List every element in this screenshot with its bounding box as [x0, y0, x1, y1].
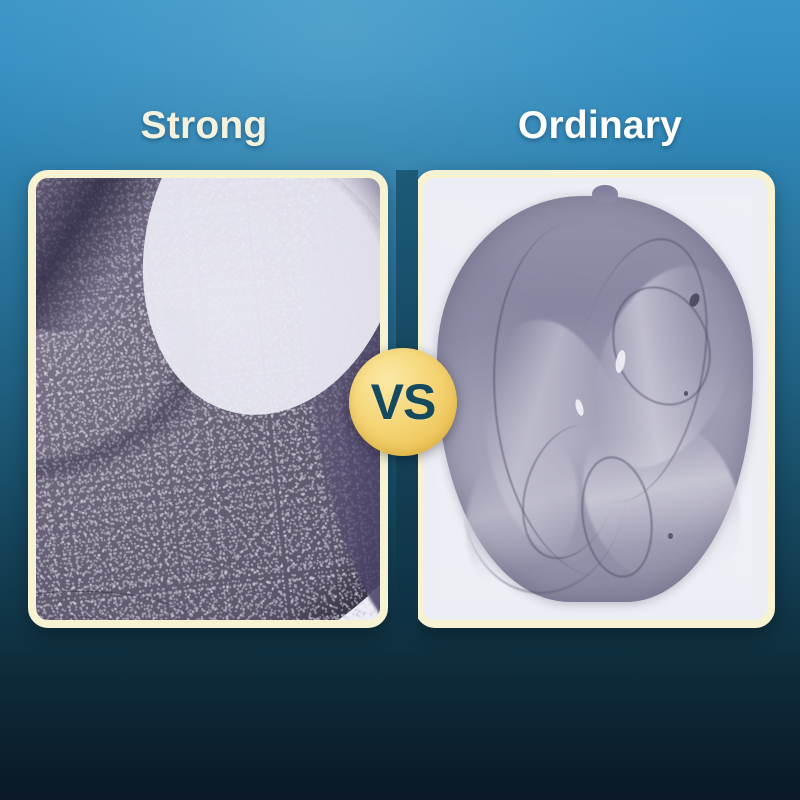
paste-highlight-slit	[574, 398, 585, 416]
ordinary-paste-blob	[437, 196, 753, 603]
paste-swirl	[566, 245, 763, 488]
paste-dark-fleck	[668, 533, 673, 539]
paste-top-nub	[592, 185, 618, 203]
paste-outline-stroke	[549, 226, 729, 515]
strong-material-photo	[36, 178, 380, 620]
vs-badge: VS	[349, 348, 457, 456]
paste-swirl	[464, 306, 651, 574]
paste-dark-fleck	[684, 391, 688, 396]
paste-outline-stroke	[574, 452, 660, 582]
left-panel-title: Strong	[0, 104, 408, 148]
left-comparison-panel	[28, 170, 388, 628]
paste-outline-stroke	[506, 413, 633, 572]
comparison-graphic: Strong Ordinary	[0, 0, 800, 800]
paste-highlight-slit	[614, 350, 627, 374]
paste-outline-stroke	[596, 273, 727, 420]
paste-swirl	[450, 421, 594, 605]
ordinary-material-photo	[423, 178, 767, 620]
paste-swirl	[552, 383, 767, 618]
paste-outline-stroke	[478, 212, 705, 586]
right-comparison-panel	[415, 170, 775, 628]
paste-outline-stroke	[451, 375, 637, 602]
paste-dark-fleck	[687, 292, 701, 308]
right-panel-title: Ordinary	[400, 104, 800, 148]
vs-badge-label: VS	[371, 377, 436, 427]
translucent-wash-overlay	[437, 196, 753, 603]
